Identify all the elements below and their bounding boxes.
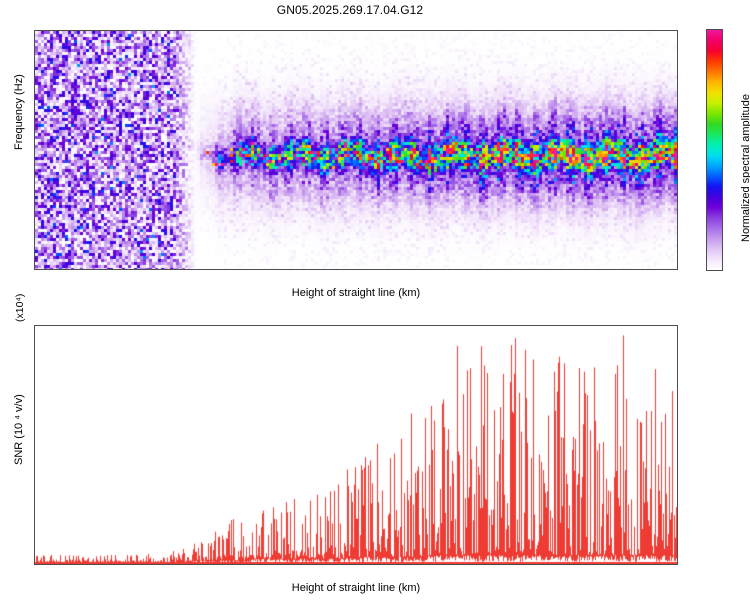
snr-frame: [34, 325, 678, 565]
spectrogram-panel: [34, 30, 678, 270]
snr-trace: [35, 326, 677, 564]
spectrogram-xlabel: Height of straight line (km): [292, 287, 420, 299]
colorbar-gradient: [707, 30, 722, 270]
snr-multiplier-text: (x10⁴): [14, 294, 26, 322]
snr-panel: [34, 325, 678, 565]
spectrogram-frame: [34, 30, 678, 270]
colorbar: [706, 29, 723, 271]
spectrogram-image: [35, 31, 677, 269]
spectrogram-ylabel: Frequency (Hz): [13, 74, 25, 150]
figure-root: GN05.2025.269.17.04.G12 Height of straig…: [0, 0, 750, 600]
colorbar-title: Normalized spectral amplitude: [740, 94, 750, 242]
figure-title: GN05.2025.269.17.04.G12: [0, 3, 700, 17]
snr-xlabel: Height of straight line (km): [292, 582, 420, 594]
snr-axis-multiplier: (x10⁴): [14, 294, 26, 322]
snr-ylabel-text: SNR (10 ⁴ v/v): [13, 394, 25, 465]
snr-ylabel: SNR (10 ⁴ v/v): [13, 394, 25, 465]
